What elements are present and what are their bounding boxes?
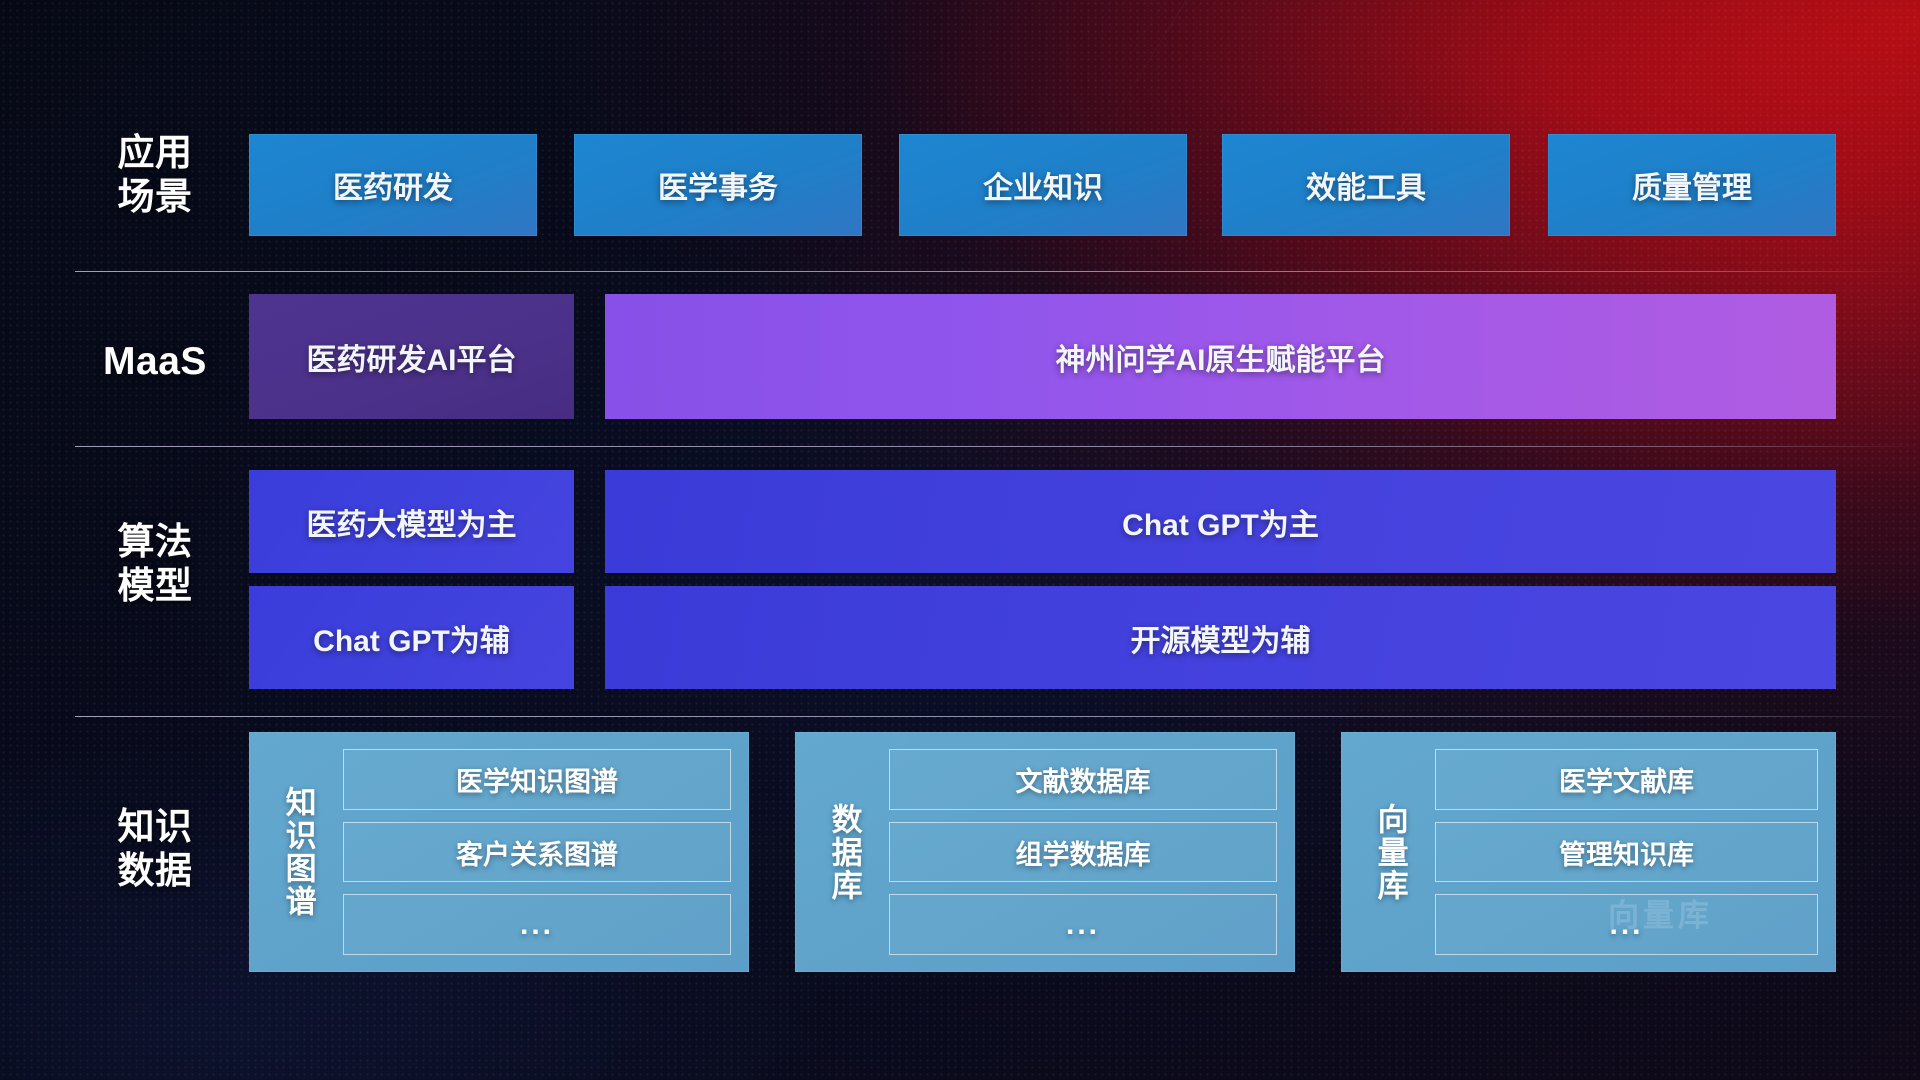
row-label-algorithm: 算法 模型 [75, 520, 235, 607]
algo-box-chatgpt-secondary[interactable]: Chat GPT为辅 [249, 586, 574, 689]
knowledge-item-customer-graph[interactable]: 客户关系图谱 [343, 822, 731, 883]
knowledge-item-graph-more[interactable]: ... [343, 894, 731, 955]
divider-application-maas [75, 271, 1920, 272]
divider-algorithm-knowledge [75, 716, 1920, 717]
row-label-application: 应用 场景 [75, 131, 235, 218]
knowledge-panel-database-label: 数据库 [813, 749, 875, 955]
knowledge-panel-graph-items: 医学知识图谱 客户关系图谱 ... [329, 749, 731, 955]
maas-box-medicine-ai-platform[interactable]: 医药研发AI平台 [249, 294, 574, 419]
app-box-medicine-rd[interactable]: 医药研发 [249, 134, 537, 236]
knowledge-item-literature-db[interactable]: 文献数据库 [889, 749, 1277, 810]
app-box-quality-management[interactable]: 质量管理 [1548, 134, 1836, 236]
knowledge-panel-database[interactable]: 数据库 文献数据库 组学数据库 ... [795, 732, 1295, 972]
knowledge-item-database-more[interactable]: ... [889, 894, 1277, 955]
divider-maas-algorithm [75, 446, 1920, 447]
row-label-knowledge: 知识 数据 [75, 805, 235, 892]
knowledge-panel-vector[interactable]: 向量库 医学文献库 管理知识库 ... [1341, 732, 1836, 972]
knowledge-panel-graph-label: 知识图谱 [267, 749, 329, 955]
app-box-efficiency-tools[interactable]: 效能工具 [1222, 134, 1510, 236]
algo-box-opensource-secondary[interactable]: 开源模型为辅 [605, 586, 1836, 689]
row-label-maas: MaaS [75, 339, 235, 385]
knowledge-panel-database-items: 文献数据库 组学数据库 ... [875, 749, 1277, 955]
knowledge-item-omics-db[interactable]: 组学数据库 [889, 822, 1277, 883]
knowledge-panel-graph[interactable]: 知识图谱 医学知识图谱 客户关系图谱 ... [249, 732, 749, 972]
knowledge-item-management-knowledge[interactable]: 管理知识库 [1435, 822, 1818, 883]
knowledge-item-vector-more[interactable]: ... [1435, 894, 1818, 955]
algo-box-chatgpt-primary[interactable]: Chat GPT为主 [605, 470, 1836, 573]
knowledge-panel-vector-label: 向量库 [1359, 749, 1421, 955]
knowledge-item-medical-literature[interactable]: 医学文献库 [1435, 749, 1818, 810]
knowledge-item-medical-graph[interactable]: 医学知识图谱 [343, 749, 731, 810]
knowledge-panel-vector-items: 医学文献库 管理知识库 ... [1421, 749, 1818, 955]
app-box-medical-affairs[interactable]: 医学事务 [574, 134, 862, 236]
app-box-enterprise-knowledge[interactable]: 企业知识 [899, 134, 1187, 236]
algo-box-medicine-llm-primary[interactable]: 医药大模型为主 [249, 470, 574, 573]
architecture-diagram: 应用 场景 医药研发 医学事务 企业知识 效能工具 质量管理 MaaS 医药研发… [0, 0, 1920, 1080]
maas-box-shenzhou-ai-platform[interactable]: 神州问学AI原生赋能平台 [605, 294, 1836, 419]
